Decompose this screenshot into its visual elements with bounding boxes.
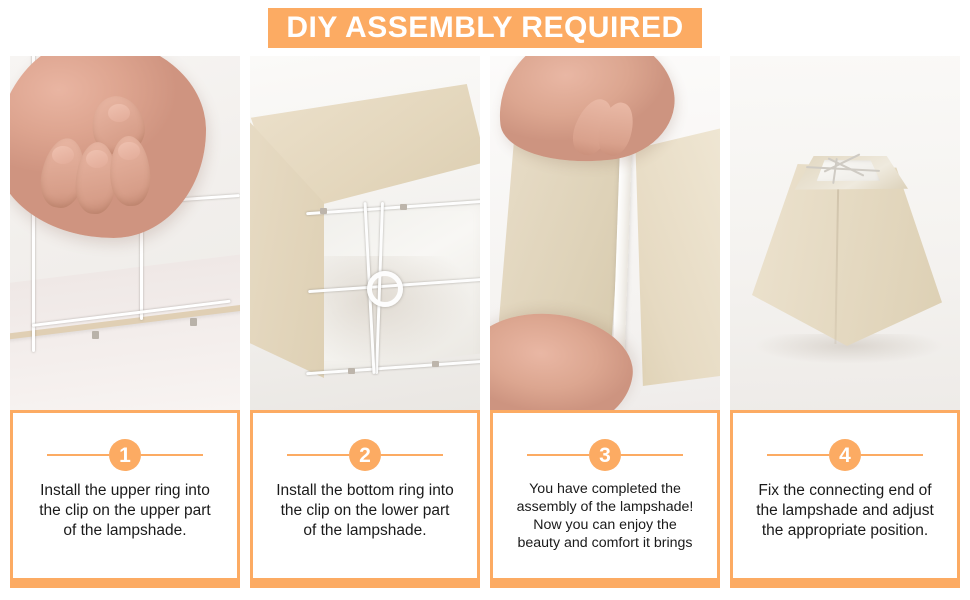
clip-icon [92,331,99,339]
step-photo-2 [250,56,480,410]
step-panel-1: 1 Install the upper ring into the clip o… [10,56,240,588]
steps-row: 1 Install the upper ring into the clip o… [10,56,960,588]
divider-line-right [141,454,203,456]
caption-line: You have completed the [517,481,694,499]
step-number-badge: 4 [829,439,861,471]
step-panel-3: 3 You have completed the assembly of the… [490,56,720,588]
lampshade-right-face [630,128,720,386]
step-number-badge: 3 [589,439,621,471]
divider-line-right [861,454,923,456]
step-caption-text: Install the bottom ring into the clip on… [268,481,462,541]
caption-line: Install the bottom ring into [276,481,454,501]
fingernail [118,142,140,160]
clip-icon [320,208,327,214]
clip-icon [348,368,355,374]
step-divider: 4 [745,439,945,471]
step-panel-2: 2 Install the bottom ring into the clip … [250,56,480,588]
step-caption-card-1: 1 Install the upper ring into the clip o… [10,410,240,588]
caption-line: of the lampshade. [39,521,210,541]
caption-line: of the lampshade. [276,521,454,541]
caption-line: Install the upper ring into [39,481,210,501]
center-ring-icon [367,271,403,307]
divider-line-left [287,454,349,456]
clip-icon [190,318,197,326]
caption-line: beauty and comfort it brings [517,535,694,553]
step-caption-card-4: 4 Fix the connecting end of the lampshad… [730,410,960,588]
divider-line-left [47,454,109,456]
step-photo-3 [490,56,720,410]
caption-line: Now you can enjoy the [517,517,694,535]
step-caption-text: Fix the connecting end of the lampshade … [748,481,942,541]
step-caption-card-3: 3 You have completed the assembly of the… [490,410,720,588]
fingernail [108,104,130,122]
step-caption-text: Install the upper ring into the clip on … [31,481,218,541]
caption-line: the clip on the upper part [39,501,210,521]
caption-line: the lampshade and adjust [756,501,934,521]
step-number-badge: 2 [349,439,381,471]
caption-line: the clip on the lower part [276,501,454,521]
fingernail [86,150,108,168]
step-caption-card-2: 2 Install the bottom ring into the clip … [250,410,480,588]
caption-line: Fix the connecting end of [756,481,934,501]
caption-line: the appropriate position. [756,521,934,541]
step-number-badge: 1 [109,439,141,471]
clip-icon [400,204,407,210]
divider-line-right [621,454,683,456]
step-divider: 3 [505,439,705,471]
step-photo-4 [730,56,960,410]
divider-line-left [767,454,829,456]
caption-line: assembly of the lampshade! [517,499,694,517]
step-divider: 2 [265,439,465,471]
header-banner: DIY ASSEMBLY REQUIRED [268,8,701,48]
clip-icon [432,361,439,367]
step-photo-1 [10,56,240,410]
header: DIY ASSEMBLY REQUIRED [0,0,970,56]
fingernail [52,146,74,164]
divider-line-left [527,454,589,456]
step-caption-text: You have completed the assembly of the l… [513,481,698,553]
step-divider: 1 [25,439,225,471]
step-panel-4: 4 Fix the connecting end of the lampshad… [730,56,960,588]
divider-line-right [381,454,443,456]
page-title: DIY ASSEMBLY REQUIRED [286,13,683,43]
inner-shadow [320,256,470,364]
